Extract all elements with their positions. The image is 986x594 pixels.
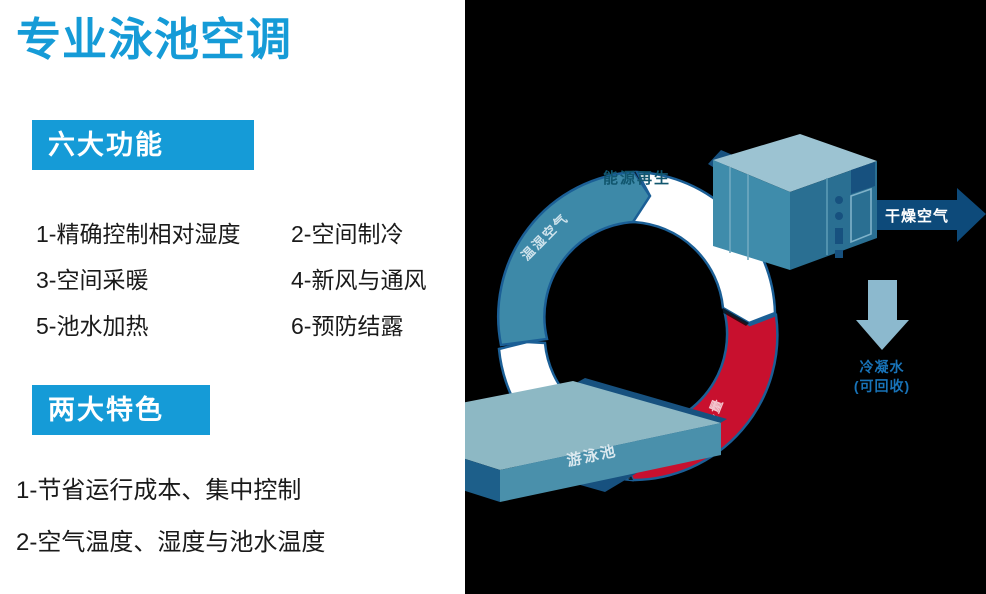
functions-section-badge: 六大功能 bbox=[32, 120, 254, 170]
functions-row: 3-空间采暖 4-新风与通风 bbox=[36, 261, 461, 307]
condensate-arrow: 冷凝水 (可回收) bbox=[854, 280, 910, 394]
dry-air-arrow: 干燥空气 bbox=[877, 188, 986, 242]
ahu-control-dot bbox=[835, 212, 843, 220]
ahu-unit bbox=[708, 134, 877, 270]
dry-air-arrow-label: 干燥空气 bbox=[885, 207, 949, 225]
ahu-control-slot bbox=[835, 228, 843, 244]
ahu-control-dot bbox=[835, 196, 843, 204]
function-item: 4-新风与通风 bbox=[291, 261, 461, 295]
function-item: 3-空间采暖 bbox=[36, 261, 291, 295]
function-item: 2-空间制冷 bbox=[291, 215, 461, 249]
functions-list: 1-精确控制相对湿度 2-空间制冷 3-空间采暖 4-新风与通风 5-池水加热 … bbox=[36, 215, 461, 353]
condensate-label-line2: (可回收) bbox=[854, 378, 910, 394]
features-section-badge: 两大特色 bbox=[32, 385, 210, 435]
cycle-segment-warm-humid-air bbox=[498, 172, 650, 345]
cycle-center-label: 能源再生 bbox=[603, 169, 671, 187]
functions-row: 1-精确控制相对湿度 2-空间制冷 bbox=[36, 215, 461, 261]
left-content-panel: 专业泳池空调 六大功能 1-精确控制相对湿度 2-空间制冷 3-空间采暖 4-新… bbox=[0, 0, 465, 594]
feature-item: 2-空气温度、湿度与池水温度 bbox=[16, 517, 456, 569]
functions-row: 5-池水加热 6-预防结露 bbox=[36, 307, 461, 353]
function-item: 1-精确控制相对湿度 bbox=[36, 215, 291, 249]
ahu-control-slot bbox=[835, 250, 843, 258]
slide-canvas: 专业泳池空调 六大功能 1-精确控制相对湿度 2-空间制冷 3-空间采暖 4-新… bbox=[0, 0, 986, 594]
function-item: 5-池水加热 bbox=[36, 307, 291, 341]
feature-item: 1-节省运行成本、集中控制 bbox=[16, 465, 456, 517]
features-list: 1-节省运行成本、集中控制 2-空气温度、湿度与池水温度 bbox=[16, 465, 456, 569]
condensate-arrow-shape bbox=[856, 280, 909, 350]
energy-cycle-diagram: 能源再生 温湿空气 热量 游泳池 bbox=[465, 0, 986, 594]
page-title: 专业泳池空调 bbox=[16, 16, 292, 63]
swimming-pool-box: 游泳池 bbox=[465, 378, 727, 502]
function-item: 6-预防结露 bbox=[291, 307, 461, 341]
condensate-label-line1: 冷凝水 bbox=[860, 359, 905, 375]
